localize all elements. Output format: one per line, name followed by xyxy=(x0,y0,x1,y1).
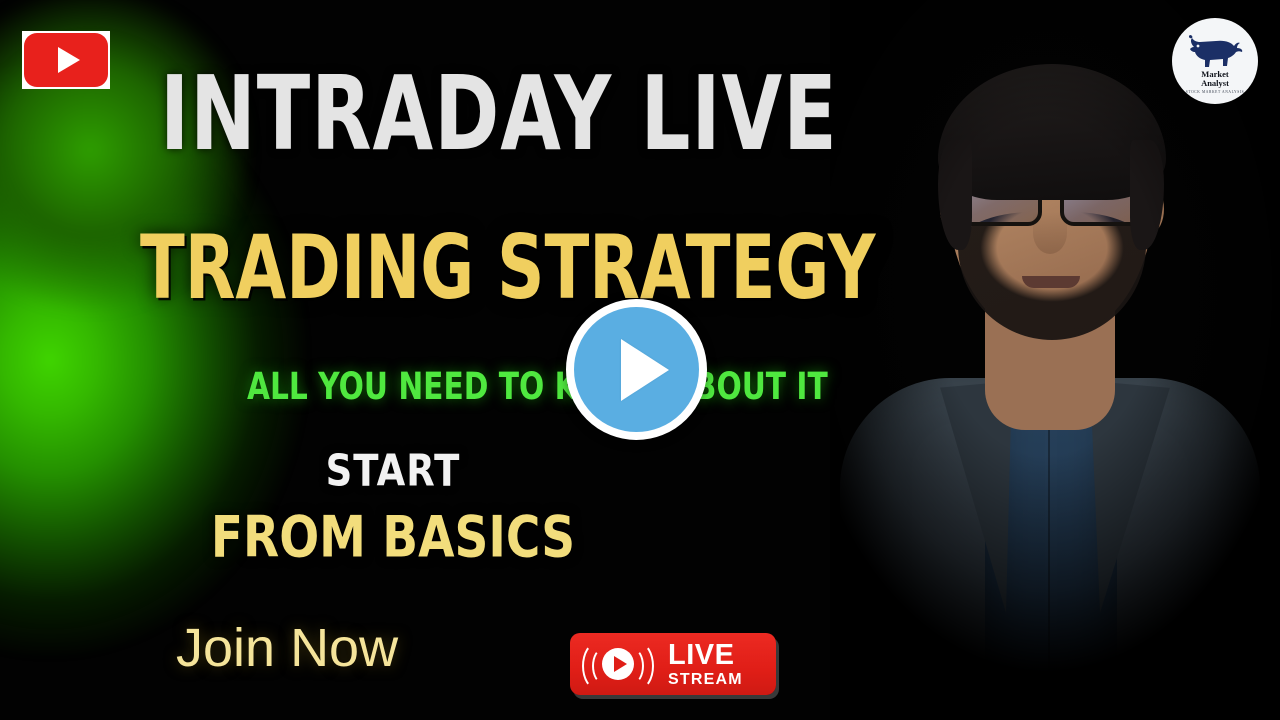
live-badge-text: LIVE STREAM xyxy=(666,641,745,688)
youtube-play-icon xyxy=(24,33,108,87)
presenter-vignette xyxy=(830,0,1280,720)
headline-line-3: ALL YOU NEED TO KNOW ABOUT IT xyxy=(247,369,828,407)
live-badge-primary: LIVE xyxy=(668,641,734,670)
youtube-logo[interactable] xyxy=(22,31,110,89)
live-broadcast-icon xyxy=(570,633,666,695)
brand-name-line-2: Analyst xyxy=(1201,78,1229,88)
headline-line-4: START xyxy=(0,449,1280,493)
live-stream-badge[interactable]: LIVE STREAM xyxy=(570,633,776,695)
join-now-text[interactable]: Join Now xyxy=(176,621,398,675)
youtube-play-triangle xyxy=(58,47,80,73)
headline-line-2: TRADING STRATEGY xyxy=(140,224,875,312)
presenter-portrait xyxy=(830,0,1280,720)
broadcast-wave-left-inner xyxy=(592,648,614,684)
live-badge-secondary: STREAM xyxy=(668,672,745,688)
brand-tagline: STOCK MARKET ANALYSIS xyxy=(1186,90,1244,94)
bull-icon xyxy=(1186,35,1244,69)
brand-name: Market Analyst xyxy=(1201,70,1229,88)
headline-line-5: FROM BASICS xyxy=(0,509,1280,566)
headline-line-1: INTRADAY LIVE xyxy=(160,63,838,165)
video-thumbnail[interactable]: Market Analyst STOCK MARKET ANALYSIS INT… xyxy=(0,0,1280,720)
broadcast-wave-right-outer xyxy=(624,642,654,690)
play-button[interactable] xyxy=(566,299,707,440)
brand-badge[interactable]: Market Analyst STOCK MARKET ANALYSIS xyxy=(1172,18,1258,104)
play-triangle-icon xyxy=(621,339,669,401)
